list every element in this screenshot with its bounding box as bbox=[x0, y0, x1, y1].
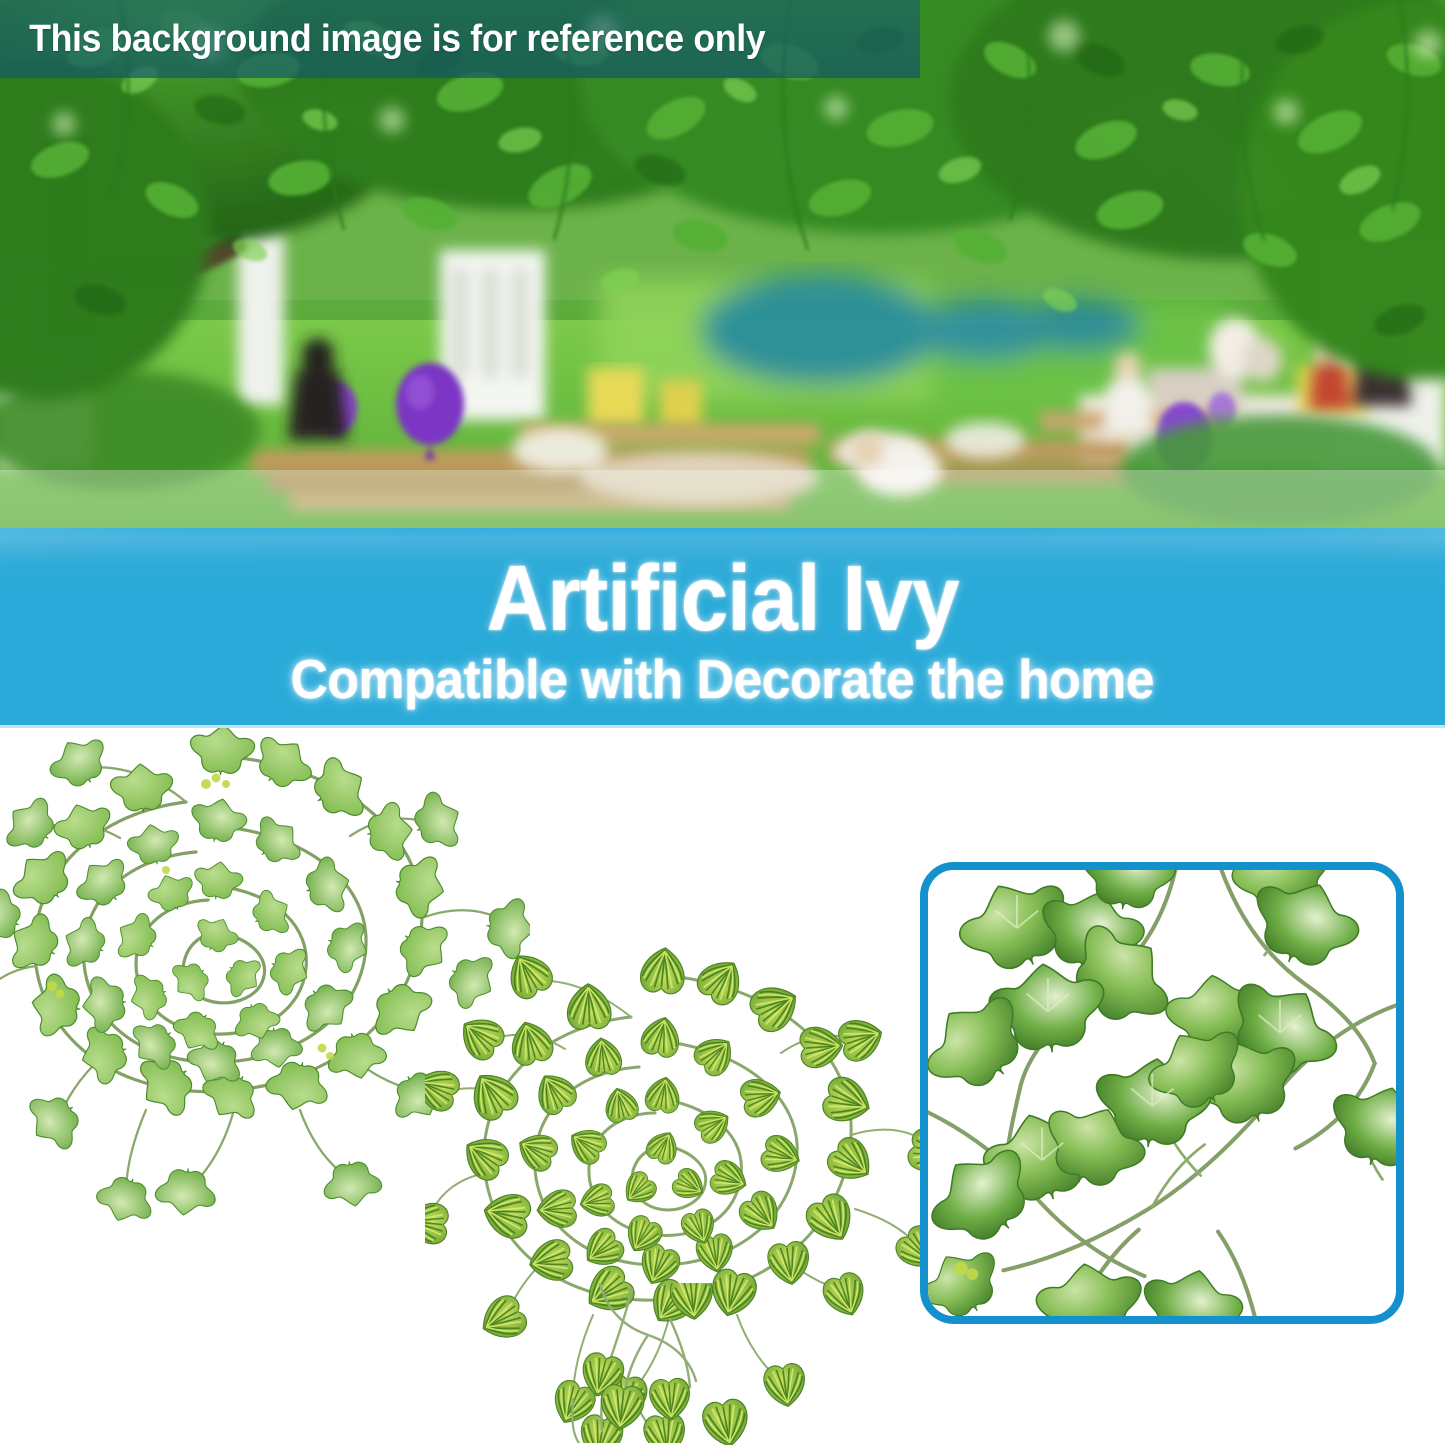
product-title: Artificial Ivy bbox=[486, 552, 958, 645]
trailing-vine-tendril bbox=[540, 1283, 840, 1445]
product-subtitle: Compatible with Decorate the home bbox=[291, 651, 1155, 709]
closeup-detail-panel bbox=[920, 862, 1404, 1324]
reference-only-text: This background image is for reference o… bbox=[0, 18, 765, 61]
reference-only-banner: This background image is for reference o… bbox=[0, 0, 920, 78]
closeup-ivy-leaves bbox=[928, 870, 1396, 1317]
hero-background-photo bbox=[0, 0, 1445, 560]
title-band: Artificial Ivy Compatible with Decorate … bbox=[0, 528, 1445, 728]
product-marketing-image: This background image is for reference o… bbox=[0, 0, 1445, 1445]
garden-wedding-scene bbox=[0, 0, 1445, 560]
